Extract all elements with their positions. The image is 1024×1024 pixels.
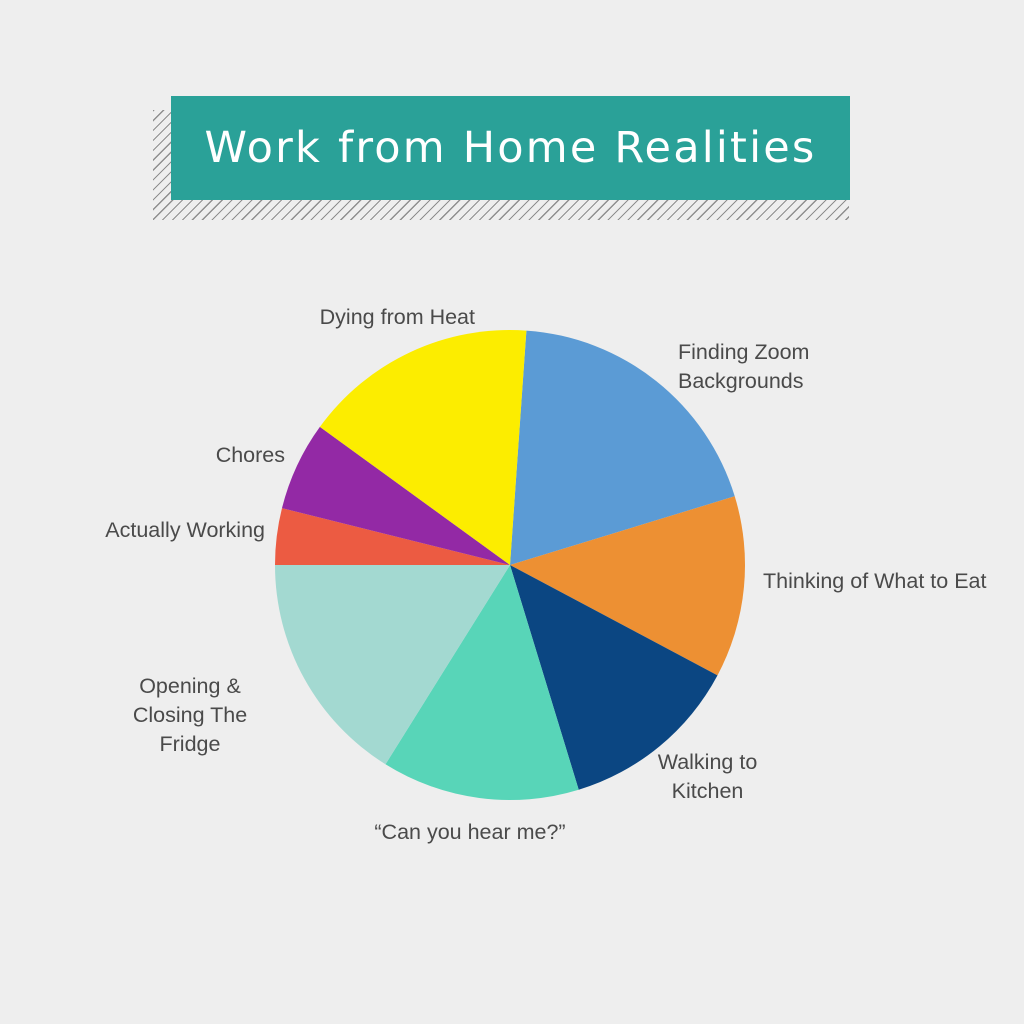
pie-slice-group <box>275 330 745 800</box>
pie-label-chores: Chores <box>0 441 285 470</box>
pie-label-can-you-hear-me: “Can you hear me?” <box>300 818 640 847</box>
pie-chart-svg <box>0 0 1024 1024</box>
pie-label-actually-working: Actually Working <box>0 516 265 545</box>
pie-label-opening-closing-fridge: Opening & Closing The Fridge <box>110 672 270 759</box>
pie-label-thinking-of-what-to-eat: Thinking of What to Eat <box>763 567 986 596</box>
pie-chart <box>0 0 1024 1024</box>
pie-label-walking-to-kitchen: Walking to Kitchen <box>620 748 795 806</box>
pie-label-finding-zoom-backgrounds: Finding Zoom Backgrounds <box>678 338 809 396</box>
pie-label-dying-from-heat: Dying from Heat <box>130 303 475 332</box>
